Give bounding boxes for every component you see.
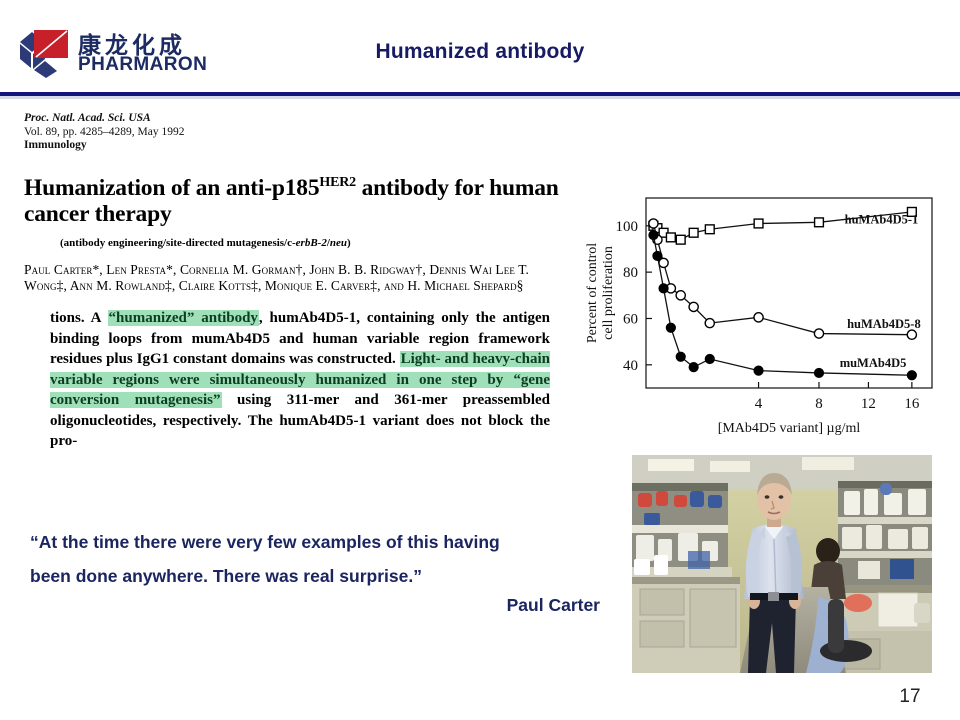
paper-keywords: (antibody engineering/site-directed muta… bbox=[60, 237, 572, 249]
journal-name: Proc. Natl. Acad. Sci. USA bbox=[24, 112, 572, 126]
keywords-part1: (antibody engineering/site-directed muta… bbox=[60, 237, 296, 249]
paper-title-pre: Humanization of an anti-p185 bbox=[24, 174, 319, 200]
x-tick-label: 16 bbox=[904, 396, 920, 412]
data-point bbox=[649, 219, 658, 228]
data-point bbox=[676, 235, 685, 244]
keywords-close: ) bbox=[347, 237, 351, 249]
data-point bbox=[907, 330, 916, 339]
paper-title-superscript: HER2 bbox=[319, 175, 356, 190]
paper-masthead: Proc. Natl. Acad. Sci. USA Vol. 89, pp. … bbox=[24, 112, 572, 153]
proliferation-chart: 406080100481216[MAb4D5 variant] µg/mlPer… bbox=[580, 182, 952, 444]
slide: 康龙化成 PHARMARON Humanized antibody Proc. … bbox=[0, 0, 960, 720]
data-point bbox=[689, 363, 698, 372]
x-axis-label: [MAb4D5 variant] µg/ml bbox=[718, 421, 861, 436]
data-point bbox=[754, 366, 763, 375]
paper-authors: Paul Carter*, Len Presta*, Cornelia M. G… bbox=[24, 262, 572, 294]
data-point bbox=[659, 284, 668, 293]
lab-photo-image bbox=[632, 455, 932, 673]
chart-canvas: 406080100481216[MAb4D5 variant] µg/mlPer… bbox=[580, 182, 952, 444]
data-point bbox=[705, 319, 714, 328]
y-axis-label: Percent of control bbox=[585, 243, 600, 343]
data-point bbox=[676, 291, 685, 300]
data-point bbox=[815, 218, 824, 227]
abstract-highlight-1: “humanized” antibody bbox=[108, 310, 259, 326]
data-point bbox=[649, 230, 658, 239]
data-point bbox=[705, 225, 714, 234]
x-tick-label: 12 bbox=[861, 396, 876, 412]
data-point bbox=[814, 368, 823, 377]
y-tick-label: 80 bbox=[623, 265, 638, 281]
series-label: huMAb4D5-1 bbox=[845, 212, 919, 226]
data-point bbox=[689, 302, 698, 311]
y-tick-label: 40 bbox=[623, 358, 638, 374]
data-point bbox=[689, 228, 698, 237]
data-point bbox=[705, 354, 714, 363]
paper-title: Humanization of an anti-p185HER2 antibod… bbox=[24, 169, 572, 229]
data-point bbox=[754, 219, 763, 228]
page-title: Humanized antibody bbox=[0, 40, 960, 64]
lab-photo bbox=[632, 455, 932, 673]
quote-attribution: Paul Carter bbox=[30, 595, 600, 616]
y-axis-label: cell proliferation bbox=[601, 246, 616, 340]
paper-clipping: Proc. Natl. Acad. Sci. USA Vol. 89, pp. … bbox=[24, 112, 572, 452]
y-tick-label: 60 bbox=[623, 311, 638, 327]
page-number: 17 bbox=[890, 686, 930, 708]
data-point bbox=[814, 329, 823, 338]
y-tick-label: 100 bbox=[616, 219, 639, 235]
abstract-segment-1: tions. A bbox=[50, 310, 108, 326]
series-label: huMAb4D5-8 bbox=[847, 317, 921, 331]
journal-section: Immunology bbox=[24, 139, 572, 153]
data-point bbox=[653, 251, 662, 260]
data-point bbox=[907, 371, 916, 380]
journal-volume: Vol. 89, pp. 4285–4289, May 1992 bbox=[24, 126, 572, 140]
paper-abstract: tions. A “humanized” antibody, humAb4D5-… bbox=[50, 308, 550, 452]
quote-line-1: “At the time there were very few example… bbox=[30, 525, 600, 559]
pull-quote: “At the time there were very few example… bbox=[30, 525, 600, 593]
keywords-gene1: erbB-2 bbox=[296, 237, 327, 249]
data-point bbox=[754, 313, 763, 322]
quote-line-2: been done anywhere. There was real surpr… bbox=[30, 559, 600, 593]
x-tick-label: 4 bbox=[755, 396, 763, 412]
x-tick-label: 8 bbox=[815, 396, 823, 412]
data-point bbox=[676, 352, 685, 361]
keywords-gene2: neu bbox=[330, 237, 347, 249]
series-label: muMAb4D5 bbox=[840, 356, 907, 370]
header-divider-shadow bbox=[0, 96, 960, 99]
data-point bbox=[666, 233, 675, 242]
data-point bbox=[666, 323, 675, 332]
